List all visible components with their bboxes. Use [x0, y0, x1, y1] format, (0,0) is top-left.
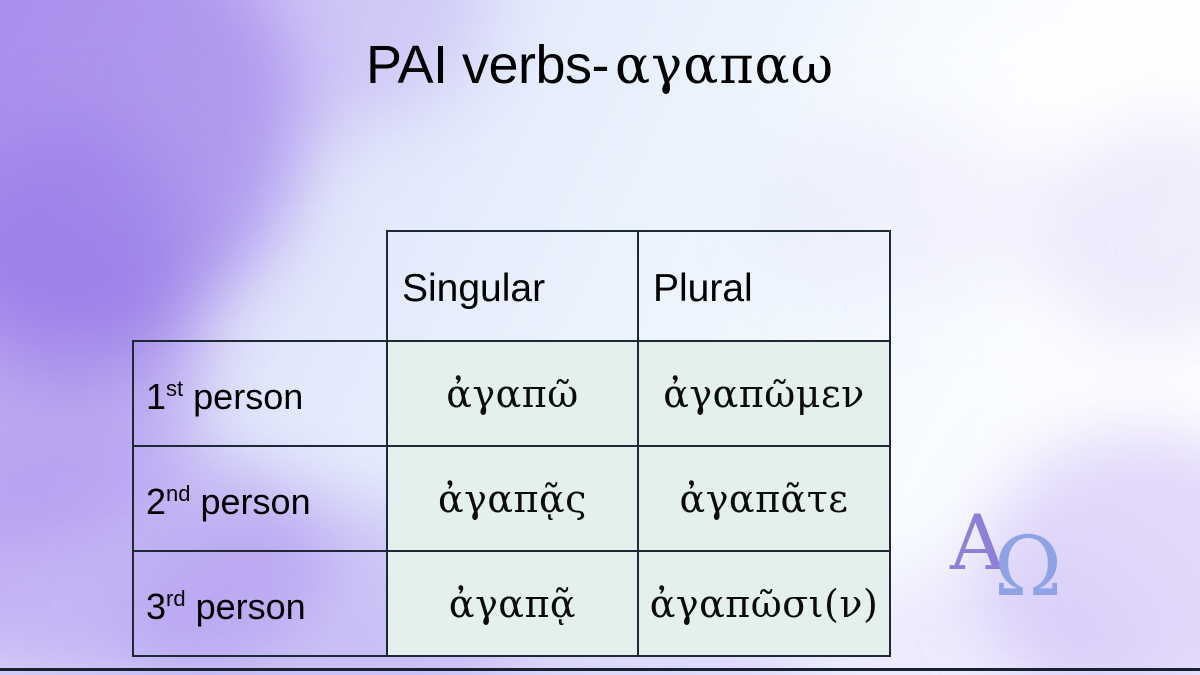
row-header-first-person: 1st person — [133, 341, 387, 446]
row-header-second-person: 2nd person — [133, 446, 387, 551]
slide-title-latin: PAI verbs- — [366, 35, 609, 95]
alpha-omega-logo: Α Ω — [950, 505, 1080, 610]
slide-bottom-rule — [0, 668, 1200, 671]
table-header-row: Singular Plural — [133, 231, 890, 341]
person-number: 3 — [146, 586, 166, 627]
column-header-singular: Singular — [387, 231, 638, 341]
conjugation-table: Singular Plural 1st person ἀγαπῶ ἀγαπῶμε… — [132, 230, 891, 657]
table-row: 3rd person ἀγαπᾷ ἀγαπῶσι(ν) — [133, 551, 890, 656]
person-ordinal-suffix: rd — [166, 586, 186, 611]
person-number: 1 — [146, 376, 166, 417]
person-word: person — [191, 481, 311, 522]
cell-second-person-plural: ἀγαπᾶτε — [638, 446, 890, 551]
presentation-slide: PAI verbs-αγαπαω Singular Plural 1st per… — [0, 0, 1200, 675]
cell-third-person-plural: ἀγαπῶσι(ν) — [638, 551, 890, 656]
cell-third-person-singular: ἀγαπᾷ — [387, 551, 638, 656]
omega-icon: Ω — [994, 527, 1062, 609]
person-ordinal-suffix: nd — [166, 481, 190, 506]
cell-first-person-plural: ἀγαπῶμεν — [638, 341, 890, 446]
person-ordinal-suffix: st — [166, 376, 183, 401]
person-number: 2 — [146, 481, 166, 522]
row-header-third-person: 3rd person — [133, 551, 387, 656]
person-word: person — [186, 586, 306, 627]
table-row: 1st person ἀγαπῶ ἀγαπῶμεν — [133, 341, 890, 446]
alpha-icon: Α — [950, 505, 1005, 581]
table-row: 2nd person ἀγαπᾷς ἀγαπᾶτε — [133, 446, 890, 551]
slide-title-greek: αγαπαω — [615, 36, 834, 96]
slide-title: PAI verbs-αγαπαω — [0, 34, 1200, 96]
table-corner-cell — [133, 231, 387, 341]
cell-second-person-singular: ἀγαπᾷς — [387, 446, 638, 551]
person-word: person — [183, 376, 303, 417]
cell-first-person-singular: ἀγαπῶ — [387, 341, 638, 446]
column-header-plural: Plural — [638, 231, 890, 341]
